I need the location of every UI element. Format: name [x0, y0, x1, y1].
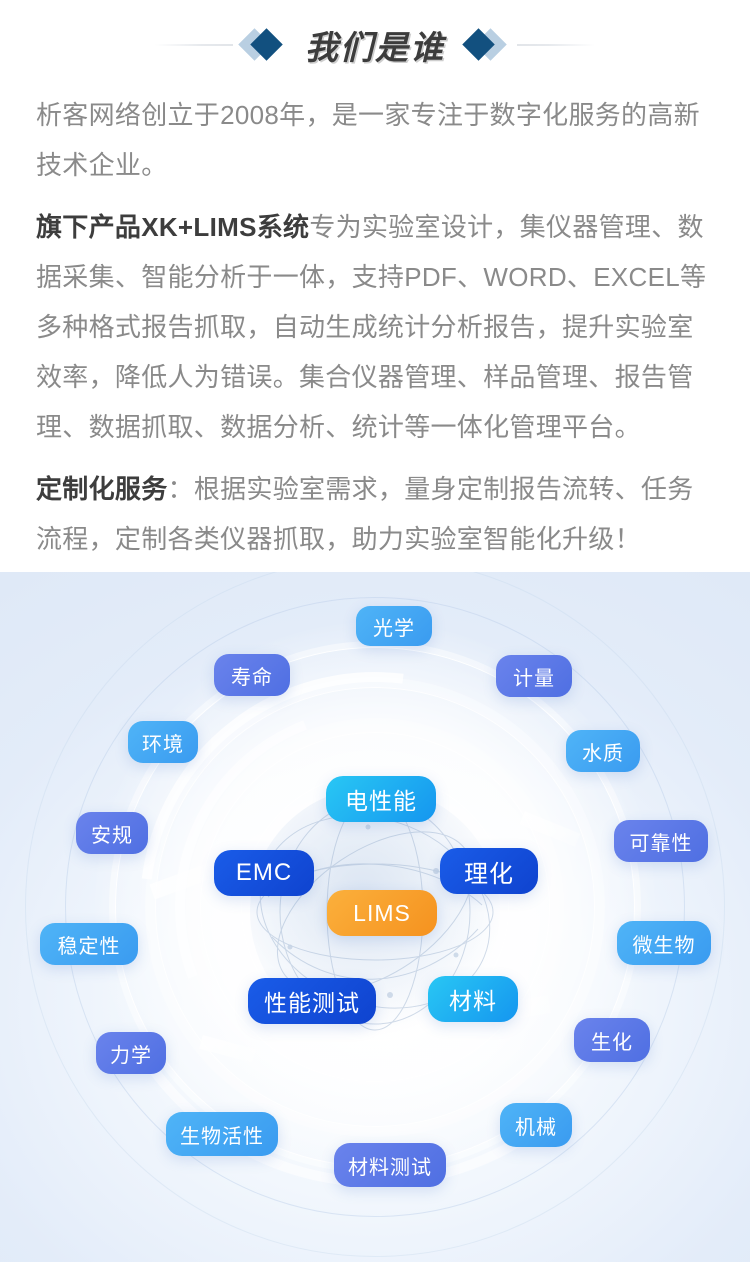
tag-pill[interactable]: 生化 [574, 1018, 650, 1062]
section-header: 我们是谁 [0, 0, 750, 90]
diamond-group-right [459, 25, 517, 65]
tag-pill[interactable]: EMC [214, 850, 314, 896]
tag-pill[interactable]: LIMS [327, 890, 437, 936]
tag-pill[interactable]: 电性能 [326, 776, 436, 822]
tag-pill[interactable]: 寿命 [214, 654, 290, 696]
tag-pill[interactable]: 机械 [500, 1103, 572, 1147]
tag-pill[interactable]: 光学 [356, 606, 432, 646]
diamond-group-left [233, 25, 291, 65]
tag-pill[interactable]: 材料测试 [334, 1143, 446, 1187]
tag-pill[interactable]: 材料 [428, 976, 518, 1022]
tag-pill[interactable]: 性能测试 [248, 978, 376, 1024]
tag-pill[interactable]: 力学 [96, 1032, 166, 1074]
paragraph-2-text: 专为实验室设计，集仪器管理、数据采集、智能分析于一体，支持PDF、WORD、EX… [36, 212, 706, 442]
tag-pill[interactable]: 稳定性 [40, 923, 138, 965]
paragraph-3: 定制化服务：根据实验室需求，量身定制报告流转、任务流程，定制各类仪器抓取，助力实… [36, 464, 714, 564]
tag-pill[interactable]: 环境 [128, 721, 198, 763]
paragraph-2-bold: 旗下产品XK+LIMS系统 [36, 212, 309, 242]
paragraph-1: 析客网络创立于2008年，是一家专注于数字化服务的高新技术企业。 [36, 90, 714, 190]
page-title: 我们是谁 [291, 21, 459, 69]
tag-pill[interactable]: 水质 [566, 730, 640, 772]
tag-pill[interactable]: 生物活性 [166, 1112, 278, 1156]
tag-pill[interactable]: 可靠性 [614, 820, 708, 862]
paragraph-2: 旗下产品XK+LIMS系统专为实验室设计，集仪器管理、数据采集、智能分析于一体，… [36, 202, 714, 452]
paragraph-1-text: 析客网络创立于2008年，是一家专注于数字化服务的高新技术企业。 [36, 100, 700, 180]
header-rule-right [517, 44, 595, 46]
header-rule-left [155, 44, 233, 46]
tag-pill[interactable]: 安规 [76, 812, 148, 854]
tag-pill[interactable]: 微生物 [617, 921, 711, 965]
paragraph-3-bold: 定制化服务 [36, 474, 168, 504]
tag-cloud-section: 光学寿命计量环境水质安规可靠性电性能EMC理化LIMS稳定性微生物性能测试材料生… [0, 572, 750, 1262]
about-copy: 析客网络创立于2008年，是一家专注于数字化服务的高新技术企业。 旗下产品XK+… [0, 90, 750, 564]
tag-pill[interactable]: 计量 [496, 655, 572, 697]
tag-pill[interactable]: 理化 [440, 848, 538, 894]
page-root: 我们是谁 析客网络创立于2008年，是一家专注于数字化服务的高新技术企业。 旗下… [0, 0, 750, 1262]
